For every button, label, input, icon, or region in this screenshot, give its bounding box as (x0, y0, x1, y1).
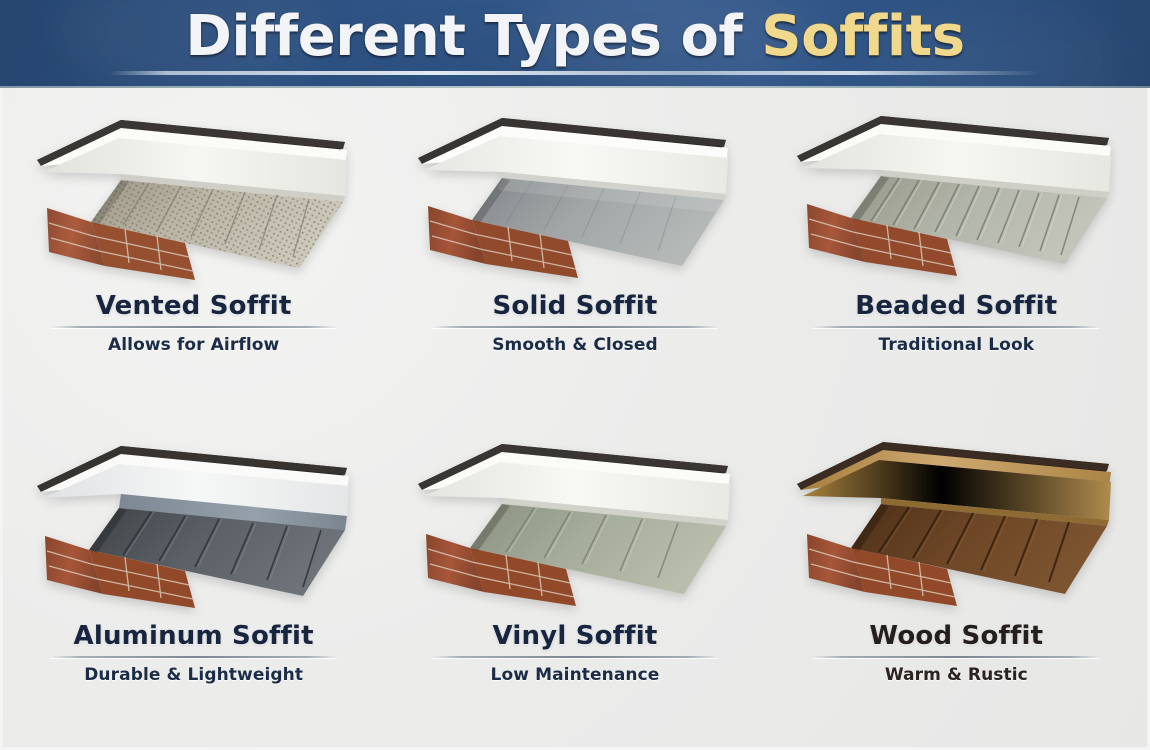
card-subtitle-solid: Smooth & Closed (432, 335, 718, 356)
card-divider-vinyl (432, 656, 718, 658)
page-title: Different Types of Soffits (0, 4, 1150, 70)
card-title-solid: Solid Soffit (432, 291, 718, 321)
vented-soffit-illustration (29, 98, 359, 283)
vinyl-soffit-illustration (410, 428, 740, 613)
beaded-soffit-illustration (791, 98, 1121, 283)
card-subtitle-vented: Allows for Airflow (51, 335, 337, 356)
soffit-card-grid: Vented Soffit Allows for Airflow (3, 88, 1147, 744)
wood-soffit-illustration (791, 428, 1121, 613)
infographic-page: Different Types of Soffits (0, 0, 1150, 750)
content-area: Vented Soffit Allows for Airflow (0, 88, 1150, 750)
header-banner: Different Types of Soffits (0, 0, 1150, 88)
card-subtitle-vinyl: Low Maintenance (432, 665, 718, 686)
vented-label-block: Vented Soffit Allows for Airflow (51, 291, 337, 356)
card-beaded-soffit[interactable]: Beaded Soffit Traditional Look (766, 88, 1147, 416)
vinyl-label-block: Vinyl Soffit Low Maintenance (432, 621, 718, 686)
card-divider-aluminum (51, 656, 337, 658)
card-title-vented: Vented Soffit (51, 291, 337, 321)
page-title-accent: Soffits (761, 4, 964, 69)
card-subtitle-beaded: Traditional Look (813, 335, 1099, 356)
card-title-beaded: Beaded Soffit (813, 291, 1099, 321)
card-divider-wood (813, 656, 1099, 658)
wood-label-block: Wood Soffit Warm & Rustic (813, 621, 1099, 686)
card-divider-beaded (813, 326, 1099, 328)
aluminum-label-block: Aluminum Soffit Durable & Lightweight (51, 621, 337, 686)
aluminum-soffit-illustration (29, 428, 359, 613)
card-divider-solid (432, 326, 718, 328)
card-divider-vented (51, 326, 337, 328)
title-underline (110, 71, 1040, 75)
card-solid-soffit[interactable]: Solid Soffit Smooth & Closed (384, 88, 765, 416)
card-aluminum-soffit[interactable]: Aluminum Soffit Durable & Lightweight (3, 416, 384, 744)
card-subtitle-aluminum: Durable & Lightweight (51, 665, 337, 686)
card-vinyl-soffit[interactable]: Vinyl Soffit Low Maintenance (384, 416, 765, 744)
card-subtitle-wood: Warm & Rustic (813, 665, 1099, 686)
solid-label-block: Solid Soffit Smooth & Closed (432, 291, 718, 356)
solid-soffit-illustration (410, 98, 740, 283)
page-title-main: Different Types of (185, 4, 761, 69)
card-title-wood: Wood Soffit (813, 621, 1099, 651)
card-title-vinyl: Vinyl Soffit (432, 621, 718, 651)
beaded-label-block: Beaded Soffit Traditional Look (813, 291, 1099, 356)
card-wood-soffit[interactable]: Wood Soffit Warm & Rustic (766, 416, 1147, 744)
card-vented-soffit[interactable]: Vented Soffit Allows for Airflow (3, 88, 384, 416)
card-title-aluminum: Aluminum Soffit (51, 621, 337, 651)
